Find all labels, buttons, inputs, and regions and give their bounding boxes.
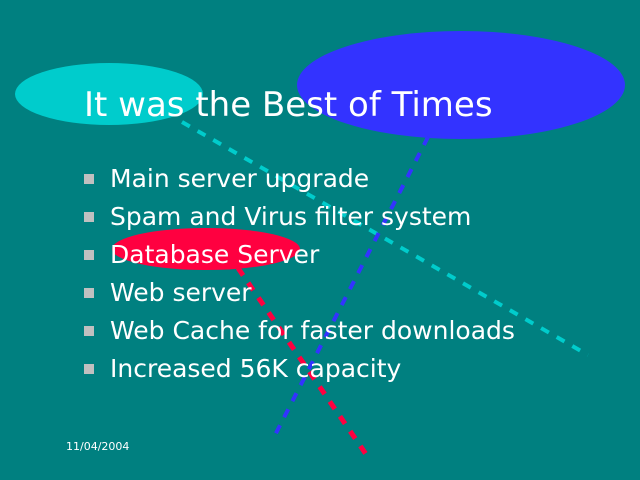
list-item-label: Web Cache for faster downloads [110,316,515,345]
list-item: Database Server [82,236,602,274]
square-bullet-icon [84,250,94,260]
square-bullet-icon [84,212,94,222]
slide-title: It was the Best of Times [84,84,564,126]
list-item-label: Increased 56K capacity [110,354,401,383]
list-item: Main server upgrade [82,160,602,198]
list-item: Spam and Virus filter system [82,198,602,236]
square-bullet-icon [84,288,94,298]
slide-date: 11/04/2004 [66,440,129,454]
square-bullet-icon [84,174,94,184]
list-item-label: Web server [110,278,252,307]
list-item-label: Main server upgrade [110,164,369,193]
list-item-label: Spam and Virus filter system [110,202,471,231]
square-bullet-icon [84,364,94,374]
slide-bullet-list: Main server upgrade Spam and Virus filte… [82,160,602,388]
square-bullet-icon [84,326,94,336]
list-item-label: Database Server [110,240,319,269]
list-item: Web Cache for faster downloads [82,312,602,350]
list-item: Increased 56K capacity [82,350,602,388]
list-item: Web server [82,274,602,312]
presentation-slide: It was the Best of Times Main server upg… [0,0,640,480]
